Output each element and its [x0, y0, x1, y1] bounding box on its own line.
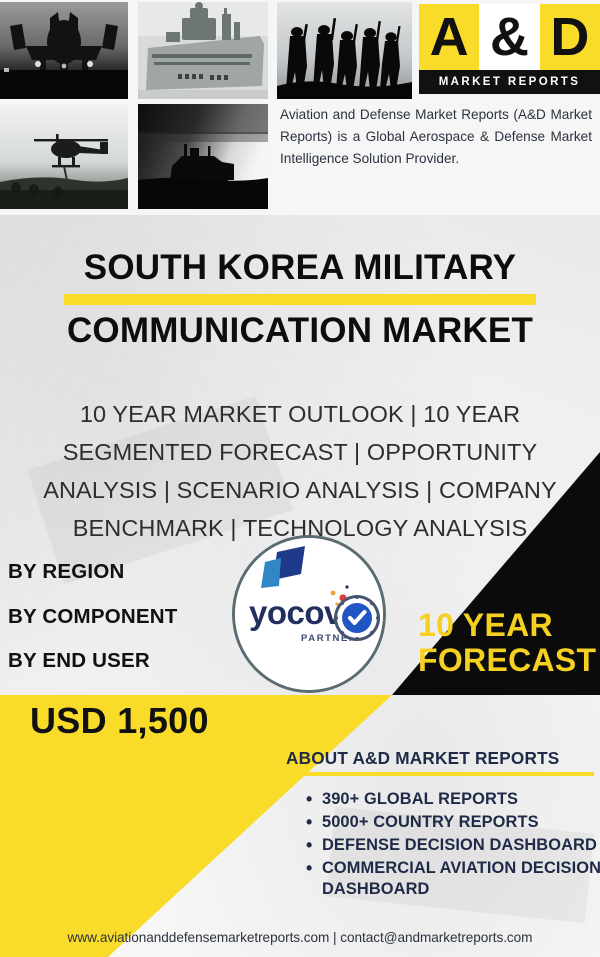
forecast-line-1: 10 YEAR [418, 608, 600, 643]
photo-fighter-jet [0, 2, 128, 99]
ad-market-reports-logo: A & D MARKET REPORTS [419, 4, 600, 94]
title-line-1: SOUTH KOREA MILITARY [0, 248, 600, 287]
poster-canvas: A & D MARKET REPORTS Aviation and Defens… [0, 0, 600, 957]
list-item: 5000+ COUNTRY REPORTS [322, 812, 600, 833]
about-bullet-list: 390+ GLOBAL REPORTS 5000+ COUNTRY REPORT… [300, 789, 600, 902]
photo-soldiers [277, 2, 412, 99]
photo-naval-warship [138, 2, 268, 99]
photo-helicopter [0, 104, 128, 209]
segmentation-item-component: BY COMPONENT [8, 607, 177, 628]
logo-subtitle: MARKET REPORTS [419, 70, 600, 94]
segmentation-list: BY REGION BY COMPONENT BY END USER [8, 562, 177, 696]
photo-armored-vehicle [138, 104, 268, 209]
segmentation-item-region: BY REGION [8, 562, 177, 583]
company-intro-paragraph: Aviation and Defense Market Reports (A&D… [280, 104, 592, 170]
about-heading: ABOUT A&D MARKET REPORTS [286, 748, 594, 769]
about-underline-rule [286, 772, 594, 776]
list-item: COMMERCIAL AVIATION DECISION DASHBOARD [322, 858, 600, 900]
title-underline-rule [64, 294, 536, 305]
list-item: 390+ GLOBAL REPORTS [322, 789, 600, 810]
title-line-2: COMMUNICATION MARKET [0, 311, 600, 350]
forecast-callout: 10 YEAR FORECAST [418, 608, 600, 677]
forecast-line-2: FORECAST [418, 643, 600, 678]
footer-contact: www.aviationanddefensemarketreports.com … [0, 930, 600, 945]
logo-letter-d: D [540, 4, 600, 70]
logo-letter-a: A [419, 4, 479, 70]
page-title: SOUTH KOREA MILITARY COMMUNICATION MARKE… [0, 248, 600, 350]
logo-letter-row: A & D [419, 4, 600, 70]
logo-letter-ampersand: & [479, 4, 539, 70]
price-value: USD 1,500 [30, 700, 209, 742]
list-item: DEFENSE DECISION DASHBOARD [322, 835, 600, 856]
yocova-partner-badge: yocova PARTNER [232, 535, 386, 693]
segmentation-item-end-user: BY END USER [8, 651, 177, 672]
report-scope-subtitle: 10 YEAR MARKET OUTLOOK | 10 YEAR SEGMENT… [14, 395, 586, 547]
